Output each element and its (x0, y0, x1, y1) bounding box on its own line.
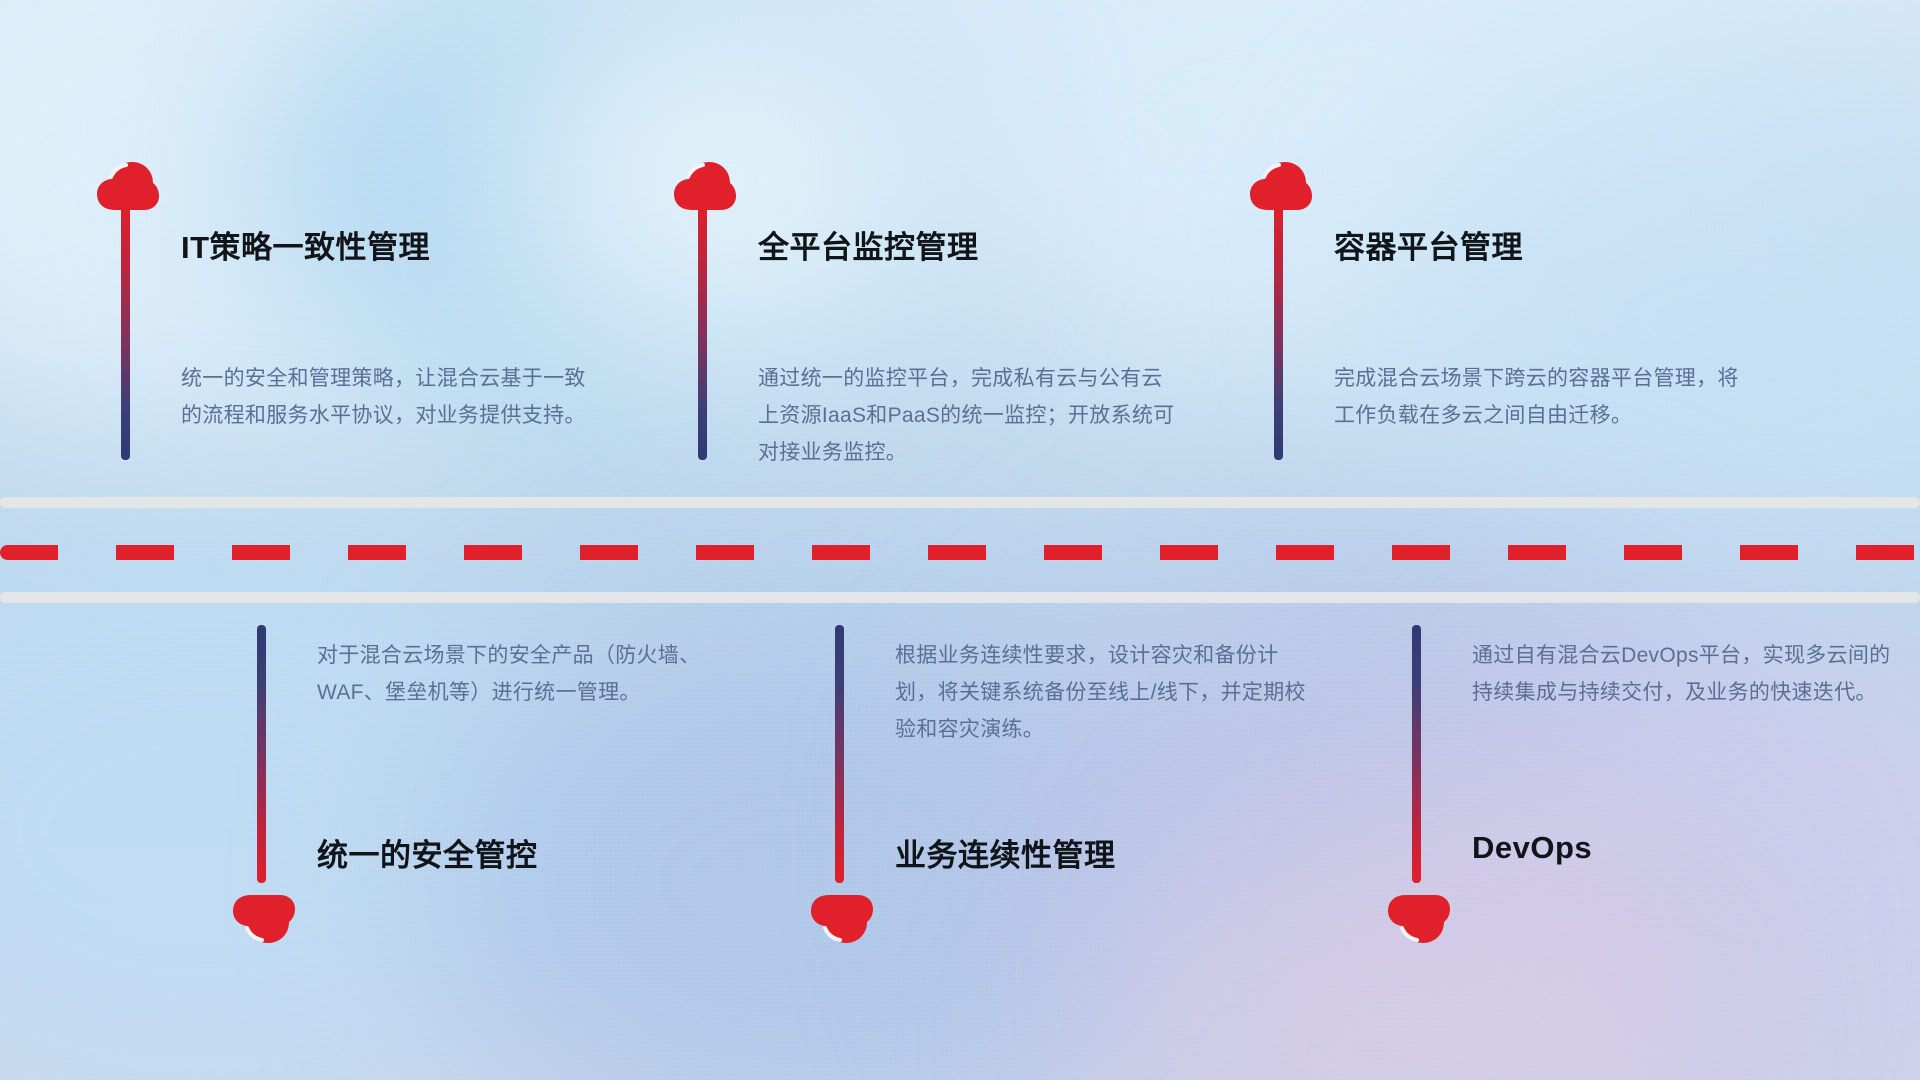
card-body: 通过统一的监控平台，完成私有云与公有云上资源IaaS和PaaS的统一监控；开放系… (758, 360, 1178, 471)
card-body: 统一的安全和管理策略，让混合云基于一致的流程和服务水平协议，对业务提供支持。 (181, 360, 601, 434)
connector-line (1412, 625, 1421, 883)
card-body: 完成混合云场景下跨云的容器平台管理，将工作负载在多云之间自由迁移。 (1334, 360, 1754, 434)
card-body: 根据业务连续性要求，设计容灾和备份计划，将关键系统备份至线上/线下，并定期校验和… (895, 637, 1315, 748)
connector-line (1274, 204, 1283, 460)
connector-line (257, 625, 266, 883)
card-heading: 业务连续性管理 (895, 830, 1116, 875)
card-body: 通过自有混合云DevOps平台，实现多云间的持续集成与持续交付，及业务的快速迭代… (1472, 637, 1892, 711)
card-heading: 全平台监控管理 (758, 222, 979, 267)
connector-line (121, 204, 130, 460)
divider-bar-top (0, 497, 1920, 508)
card-body: 对于混合云场景下的安全产品（防火墙、WAF、堡垒机等）进行统一管理。 (317, 637, 737, 711)
infographic-canvas: IT策略一致性管理 统一的安全和管理策略，让混合云基于一致的流程和服务水平协议，… (0, 0, 1920, 1080)
cloud-icon (1386, 893, 1452, 945)
divider-bar-bottom (0, 592, 1920, 603)
connector-line (835, 625, 844, 883)
card-heading: DevOps (1472, 830, 1592, 866)
cloud-icon (809, 893, 875, 945)
card-heading: IT策略一致性管理 (181, 222, 430, 267)
cloud-icon (231, 893, 297, 945)
card-heading: 统一的安全管控 (317, 830, 538, 875)
card-heading: 容器平台管理 (1334, 222, 1523, 267)
divider-dashed-line (0, 545, 1920, 560)
connector-line (698, 204, 707, 460)
